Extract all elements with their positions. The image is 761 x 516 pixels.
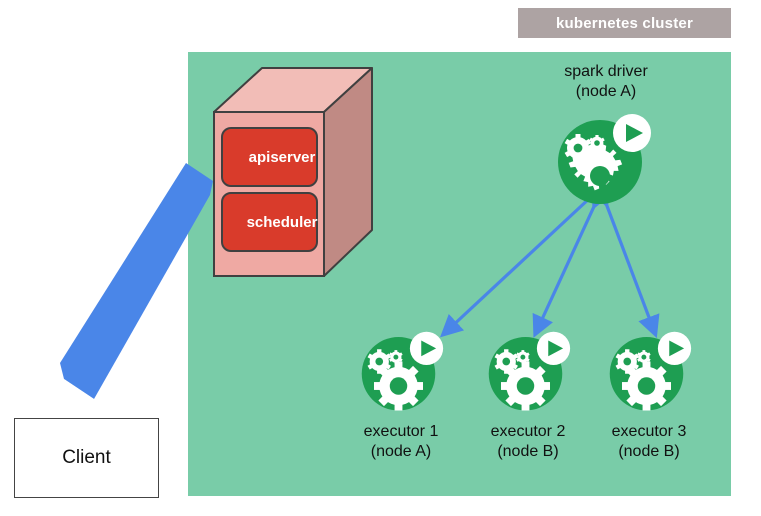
executor-1-node[interactable]: executor 1(node A) <box>360 330 444 414</box>
spark-driver-node[interactable]: spark driver(node A) <box>556 112 652 208</box>
kubernetes-master-cube: apiserver scheduler <box>200 60 380 285</box>
diagram-canvas: kubernetes cluster Client spark-submit a… <box>0 0 761 516</box>
spark-submit-arrow <box>58 163 218 408</box>
executor-2-node[interactable]: executor 2(node B) <box>487 330 571 414</box>
client-box: Client <box>14 418 159 498</box>
kubernetes-cluster-badge: kubernetes cluster <box>518 8 731 38</box>
executor-3-node[interactable]: executor 3(node B) <box>608 330 692 414</box>
client-label: Client <box>62 447 111 469</box>
